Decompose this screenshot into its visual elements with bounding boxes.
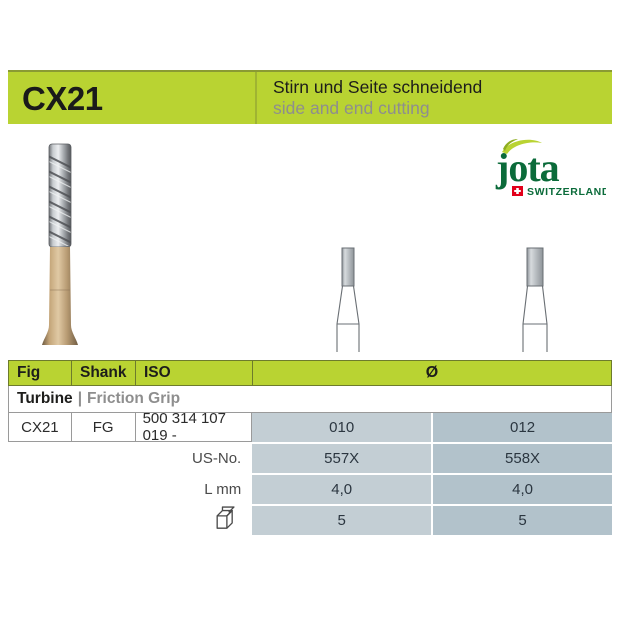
cell-package-010: 5	[252, 506, 431, 535]
jota-logo: jota SWITZERLAND	[476, 136, 606, 198]
group-row-turbine: Turbine | Friction Grip	[8, 386, 612, 413]
row-length: L mm 4,0 4,0	[8, 475, 612, 504]
description-english: side and end cutting	[273, 98, 612, 119]
bur-schematic-012	[500, 232, 570, 354]
header-diameter: Ø	[253, 361, 612, 385]
label-us-no: US-No.	[8, 444, 252, 473]
figure-cell: CX21	[8, 72, 255, 124]
package-box-icon	[211, 505, 241, 536]
group-label-secondary: Friction Grip	[87, 390, 180, 408]
svg-text:SWITZERLAND: SWITZERLAND	[527, 186, 606, 198]
cell-us-no-010: 557X	[252, 444, 431, 473]
label-length: L mm	[8, 475, 252, 504]
bur-photo	[36, 140, 94, 350]
description-cell: Stirn und Seite schneidend side and end …	[257, 72, 612, 124]
cell-package-012: 5	[433, 506, 612, 535]
figure-code: CX21	[22, 82, 103, 115]
row-us-no: US-No. 557X 558X	[8, 444, 612, 473]
header-banner: CX21 Stirn und Seite schneidend side and…	[8, 70, 612, 124]
cell-size-010: 010	[252, 413, 431, 442]
specification-table: Fig Shank ISO Ø Turbine | Friction Grip …	[8, 360, 612, 535]
table-row: CX21 FG 500 314 107 019 - 010 012	[8, 413, 612, 442]
table-header-row: Fig Shank ISO Ø	[8, 360, 612, 386]
svg-text:jota: jota	[495, 145, 560, 190]
header-shank: Shank	[72, 361, 136, 385]
cell-iso: 500 314 107 019 -	[136, 413, 253, 442]
banner-divider	[255, 72, 257, 124]
cell-size-012: 012	[433, 413, 612, 442]
group-label-primary: Turbine	[17, 390, 73, 408]
label-package	[8, 506, 252, 535]
bur-schematic-010	[313, 232, 383, 354]
cell-shank: FG	[72, 413, 136, 442]
cell-length-012: 4,0	[433, 475, 612, 504]
description-german: Stirn und Seite schneidend	[273, 77, 612, 98]
header-iso: ISO	[136, 361, 253, 385]
cell-fig: CX21	[8, 413, 72, 442]
group-separator: |	[78, 390, 82, 408]
row-package: 5 5	[8, 506, 612, 535]
cell-length-010: 4,0	[252, 475, 431, 504]
cell-us-no-012: 558X	[433, 444, 612, 473]
header-fig: Fig	[8, 361, 72, 385]
